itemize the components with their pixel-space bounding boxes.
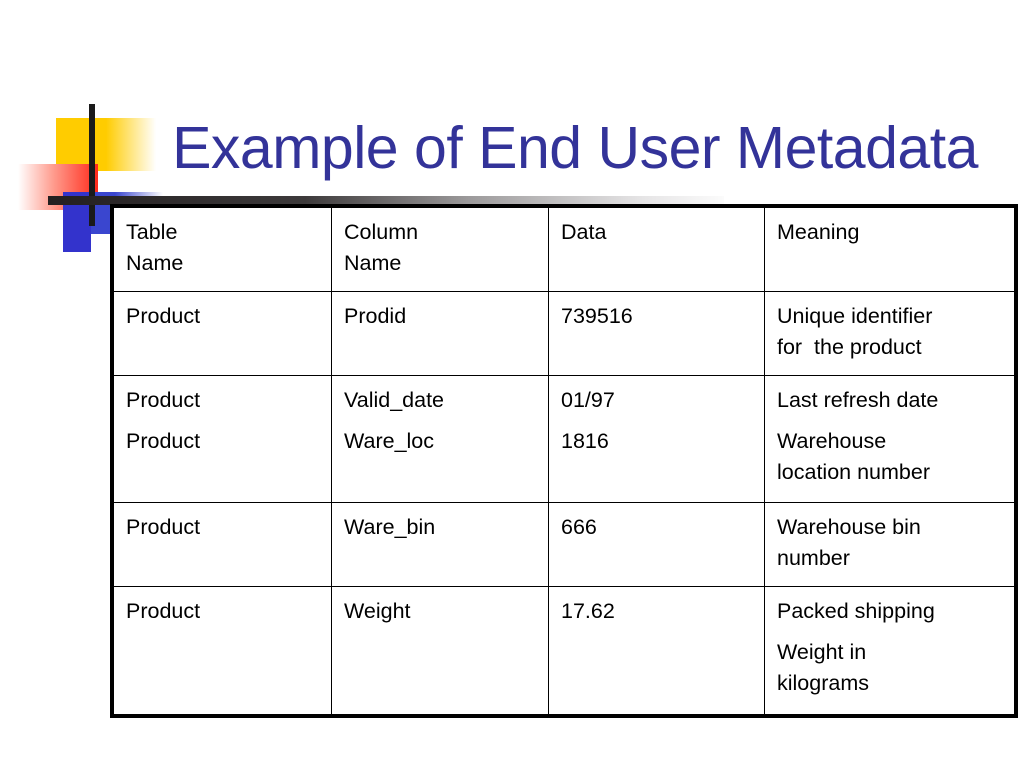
cell-line: Packed shipping [777,596,1014,627]
header-line: Meaning [777,217,1014,248]
cell-column-name: Ware_bin [332,503,549,587]
cell-line: location number [777,457,1014,488]
cell-meaning: Warehouse bin number [765,503,1017,587]
cell-line: Product [126,301,331,332]
cell-line: Unique identifier [777,301,1014,332]
cell-meaning: Unique identifier for the product [765,291,1017,375]
header-cell-meaning: Meaning [765,206,1017,291]
cell-line: Ware_loc [344,426,548,457]
cell-line: Valid_date [344,385,548,416]
header-cell-table-name: Table Name [112,206,332,291]
cell-column-name: Prodid [332,291,549,375]
table-row: Product Weight 17.62 Packed shipping Wei… [112,587,1016,716]
cell-line: 1816 [561,426,764,457]
cell-line: 01/97 [561,385,764,416]
cell-line: for the product [777,332,1014,363]
cell-line: 739516 [561,301,764,332]
cell-line: 666 [561,512,764,543]
cell-line: 17.62 [561,596,764,627]
cell-table-name: Product [112,291,332,375]
cell-meaning: Packed shipping Weight in kilograms [765,587,1017,716]
cell-line: Weight in [777,637,1014,668]
table-header-row: Table Name Column Name Data Meaning [112,206,1016,291]
page-title: Example of End User Metadata [140,110,1010,186]
cell-column-name: Weight [332,587,549,716]
cell-line: kilograms [777,668,1014,699]
slide-canvas: Example of End User Metadata Table Name … [0,0,1024,768]
cell-table-name: Product [112,587,332,716]
end-user-metadata-table: Table Name Column Name Data Meaning Prod… [110,204,1018,718]
cell-column-name: Valid_date Ware_loc [332,375,549,503]
cell-data: 666 [549,503,765,587]
header-cell-column-name: Column Name [332,206,549,291]
cell-table-name: Product [112,503,332,587]
header-line: Column [344,217,548,248]
cell-data: 17.62 [549,587,765,716]
cell-line: Product [126,512,331,543]
cell-meaning: Last refresh date Warehouse location num… [765,375,1017,503]
cell-line: Product [126,596,331,627]
vertical-rule-icon [89,104,95,226]
table-row: Product Prodid 739516 Unique identifier … [112,291,1016,375]
cell-line: Ware_bin [344,512,548,543]
header-line: Name [344,248,548,279]
cell-line: Last refresh date [777,385,1014,416]
header-line: Data [561,217,764,248]
cell-line: Warehouse [777,426,1014,457]
header-cell-data: Data [549,206,765,291]
header-line: Table [126,217,331,248]
cell-data: 739516 [549,291,765,375]
table-row: Product Product Valid_date Ware_loc 01/9… [112,375,1016,503]
cell-line: number [777,543,1014,574]
header-line: Name [126,248,331,279]
cell-data: 01/97 1816 [549,375,765,503]
cell-table-name: Product Product [112,375,332,503]
cell-line: Warehouse bin [777,512,1014,543]
cell-line: Prodid [344,301,548,332]
table-row: Product Ware_bin 666 Warehouse bin numbe… [112,503,1016,587]
cell-line: Weight [344,596,548,627]
cell-line: Product [126,385,331,416]
cell-line: Product [126,426,331,457]
